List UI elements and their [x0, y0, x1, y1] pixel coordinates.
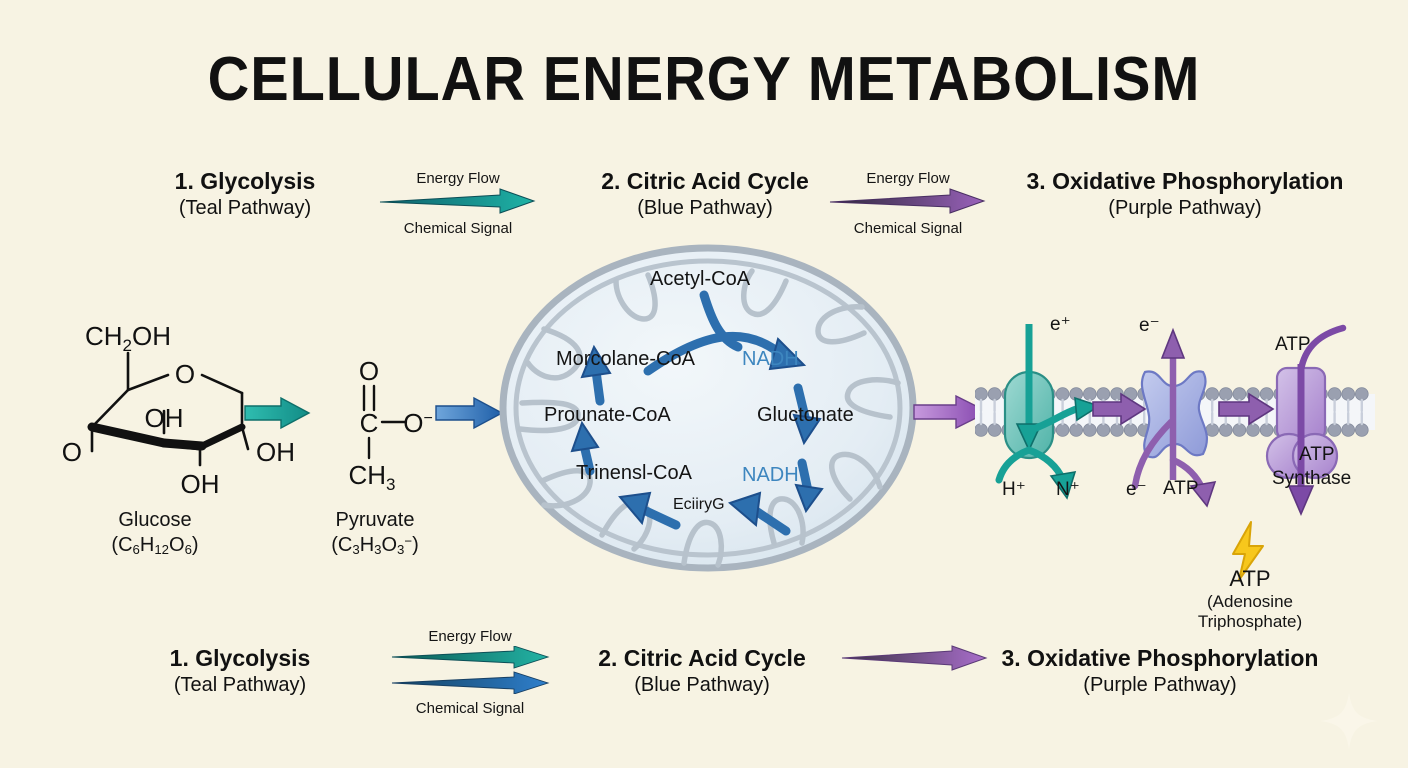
- etc-label-h-plus: H⁺: [1002, 478, 1026, 501]
- atp-output-caption: ATP (Adenosine Triphosphate): [1160, 566, 1340, 631]
- glucose-formula: (C6H12O6): [55, 533, 255, 558]
- etc-label-atp-synthase-line2: Synthase: [1272, 468, 1351, 490]
- page-title: CELLULAR ENERGY METABOLISM: [49, 44, 1358, 115]
- glucose-ch2oh-label: CH2OH: [85, 321, 171, 355]
- pyruvate-methyl-label: CH3: [348, 460, 395, 492]
- connector-top-label: Energy Flow: [828, 170, 988, 187]
- etc-label-e-minus-up: e⁻: [1139, 314, 1160, 337]
- stage-heading-citric-acid-cycle-bottom: 2. Citric Acid Cycle (Blue Pathway): [552, 645, 852, 697]
- stage-heading-citric-acid-cycle-top: 2. Citric Acid Cycle (Blue Pathway): [540, 168, 870, 220]
- stage-subtitle: (Purple Pathway): [1010, 197, 1360, 220]
- etc-label-atp-top: ATP: [1275, 334, 1311, 356]
- arrow-pyruvate-to-cycle-icon: [434, 396, 504, 430]
- pyruvate-caption: Pyruvate (C3H3O3−): [280, 508, 470, 558]
- etc-label-e-minus-in: e⁻: [1126, 478, 1147, 501]
- stage-heading-glycolysis-bottom: 1. Glycolysis (Teal Pathway): [90, 645, 390, 697]
- connector-bottom-label: Chemical Signal: [378, 220, 538, 237]
- diagram-canvas: CELLULAR ENERGY METABOLISM 1. Glycolysis…: [0, 0, 1408, 768]
- etc-label-n-plus: N⁺: [1056, 478, 1080, 501]
- pyruvate-oxygen-anion-label: O−: [403, 408, 433, 438]
- glucose-oh-right-label: OH: [256, 437, 295, 467]
- pyruvate-carbon-label: C: [360, 408, 379, 438]
- stage-title: 2. Citric Acid Cycle: [540, 168, 870, 195]
- cycle-label-prounate-coa: Prounate-CoA: [544, 404, 671, 427]
- atp-output-sub2: Triphosphate): [1160, 612, 1340, 632]
- stage-subtitle: (Teal Pathway): [90, 674, 390, 697]
- glucose-oh-bottom-label: OH: [181, 469, 220, 499]
- cycle-label-nadh-1: NADH: [742, 348, 799, 371]
- stage-title: 1. Glycolysis: [90, 645, 390, 672]
- cycle-label-eciiryg: EciiryG: [673, 496, 725, 514]
- arrow-glucose-to-pyruvate-icon: [243, 396, 311, 430]
- cycle-label-nadh-2: NADH: [742, 464, 799, 487]
- stage-title: 2. Citric Acid Cycle: [552, 645, 852, 672]
- stage-subtitle: (Teal Pathway): [80, 197, 410, 220]
- etc-label-e-plus: e⁺: [1050, 313, 1071, 336]
- etc-label-atp-c2: ATP: [1163, 478, 1199, 500]
- stage-subtitle: (Blue Pathway): [540, 197, 870, 220]
- cycle-label-gluctonate: Gluctonate: [757, 404, 854, 427]
- stage-heading-oxidative-phosphorylation-top: 3. Oxidative Phosphorylation (Purple Pat…: [1010, 168, 1360, 220]
- stage-heading-glycolysis-top: 1. Glycolysis (Teal Pathway): [80, 168, 410, 220]
- glucose-caption: Glucose (C6H12O6): [55, 508, 255, 558]
- cycle-label-acetyl-coa: Acetyl-CoA: [650, 268, 750, 291]
- cycle-label-trinensl-coa: Trinensl-CoA: [576, 462, 692, 485]
- stage-heading-oxidative-phosphorylation-bottom: 3. Oxidative Phosphorylation (Purple Pat…: [990, 645, 1330, 697]
- connector-bottom-glycolysis-to-cycle: Energy Flow Chemical Signal: [390, 628, 550, 717]
- cycle-label-morcolane-coa: Morcolane-CoA: [556, 348, 695, 371]
- pyruvate-carbonyl-oxygen-label: O: [359, 356, 379, 386]
- etc-complex-1: [999, 324, 1099, 498]
- stage-title: 3. Oxidative Phosphorylation: [990, 645, 1330, 672]
- pyruvate-structure: O C O− CH3: [320, 352, 450, 492]
- atp-output-sub1: (Adenosine: [1160, 592, 1340, 612]
- stage-title: 1. Glycolysis: [80, 168, 410, 195]
- energy-flow-arrow-teal-icon: [378, 188, 538, 214]
- stage-title: 3. Oxidative Phosphorylation: [1010, 168, 1360, 195]
- connector-top-label: Energy Flow: [378, 170, 538, 187]
- pyruvate-formula: (C3H3O3−): [280, 533, 470, 558]
- connector-bottom-cycle-to-oxphos-icon: [840, 645, 990, 671]
- sparkle-watermark-icon: [1318, 690, 1380, 752]
- atp-output-title: ATP: [1160, 566, 1340, 592]
- glucose-ring-oxygen-label: O: [175, 359, 195, 389]
- connector-top-label: Energy Flow: [390, 628, 550, 645]
- connector-cycle-to-oxphos: Energy Flow Chemical Signal: [828, 170, 988, 237]
- energy-flow-arrow-purple-icon: [828, 188, 988, 214]
- connector-glycolysis-to-cycle: Energy Flow Chemical Signal: [378, 170, 538, 237]
- glucose-name: Glucose: [55, 508, 255, 533]
- etc-label-atp-synthase-line1: ATP: [1299, 444, 1335, 466]
- connector-bottom-label: Chemical Signal: [828, 220, 988, 237]
- connector-bottom-label: Chemical Signal: [390, 700, 550, 717]
- glucose-ho-left-label: HO: [60, 437, 82, 467]
- dual-flow-arrows-icon: [390, 646, 550, 694]
- stage-subtitle: (Blue Pathway): [552, 674, 852, 697]
- glucose-oh-top-label: OH: [145, 403, 184, 433]
- stage-subtitle: (Purple Pathway): [990, 674, 1330, 697]
- pyruvate-name: Pyruvate: [280, 508, 470, 533]
